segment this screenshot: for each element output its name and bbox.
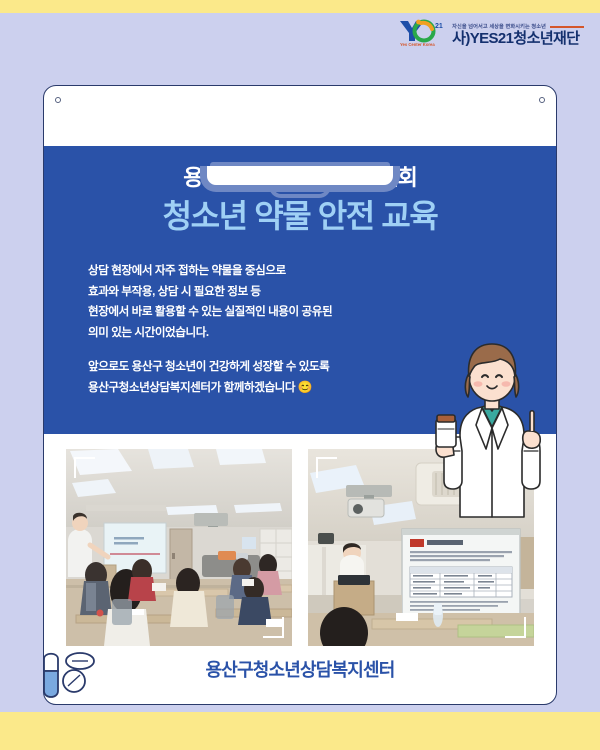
panel-title: 청소년 약물 안전 교육 xyxy=(44,199,556,235)
p2-line-1: 앞으로도 용산구 청소년이 건강하게 성장할 수 있도록 xyxy=(88,360,329,373)
photo-corner-bottom-right xyxy=(505,617,526,638)
logo-tagline-row: 자신을 넘어서고 세상을 변화시키는 청소년 xyxy=(452,23,584,30)
logo-text-column: 자신을 넘어서고 세상을 변화시키는 청소년 사)YES21청소년재단 xyxy=(452,23,584,47)
bottom-yellow-band xyxy=(0,712,600,750)
clip-screw-left-icon xyxy=(55,97,61,103)
p2-line-2: 용산구청소년상담복지센터가 함께하겠습니다 xyxy=(88,381,295,394)
p1-line-3: 현장에서 바로 활용할 수 있는 실질적인 내용이 공유된 xyxy=(88,305,332,318)
poster-root: 21 Yes Center Korea 자신을 넘어서고 세상을 변화시키는 청… xyxy=(0,0,600,750)
smiley-emoji-icon: 😊 xyxy=(298,380,313,394)
clip-notch xyxy=(269,186,331,198)
svg-text:21: 21 xyxy=(435,23,443,30)
p1-line-2: 효과와 부작용, 상담 시 필요한 정보 등 xyxy=(88,285,261,298)
clip-screw-right-icon xyxy=(539,97,545,103)
photo-corner-bottom-right xyxy=(263,617,284,638)
p1-line-4: 의미 있는 시간이었습니다. xyxy=(88,326,209,339)
p1-line-1: 상담 현장에서 자주 접하는 약물을 중심으로 xyxy=(88,264,286,277)
svg-text:Yes Center Korea: Yes Center Korea xyxy=(400,42,435,47)
yes21-logo-icon: 21 Yes Center Korea xyxy=(398,17,446,47)
pharmacist-character-illustration xyxy=(430,331,548,521)
logo-rule xyxy=(550,26,584,28)
photo-lecture-audience xyxy=(66,449,292,646)
foundation-logo: 21 Yes Center Korea 자신을 넘어서고 세상을 변화시키는 청… xyxy=(398,17,584,47)
clipboard-card: 용산구약사회 여약사위원회 청소년 약물 안전 교육 상담 현장에서 자주 접하… xyxy=(43,85,557,705)
logo-tagline: 자신을 넘어서고 세상을 변화시키는 청소년 xyxy=(452,23,546,30)
photo-corner-top-left xyxy=(316,457,337,478)
pill-capsule-and-tablets-icon xyxy=(32,647,132,717)
clipboard-metal-clip xyxy=(200,162,400,192)
logo-organization-name: 사)YES21청소년재단 xyxy=(452,31,584,47)
photo-corner-top-left xyxy=(74,457,95,478)
top-yellow-band xyxy=(0,0,600,13)
